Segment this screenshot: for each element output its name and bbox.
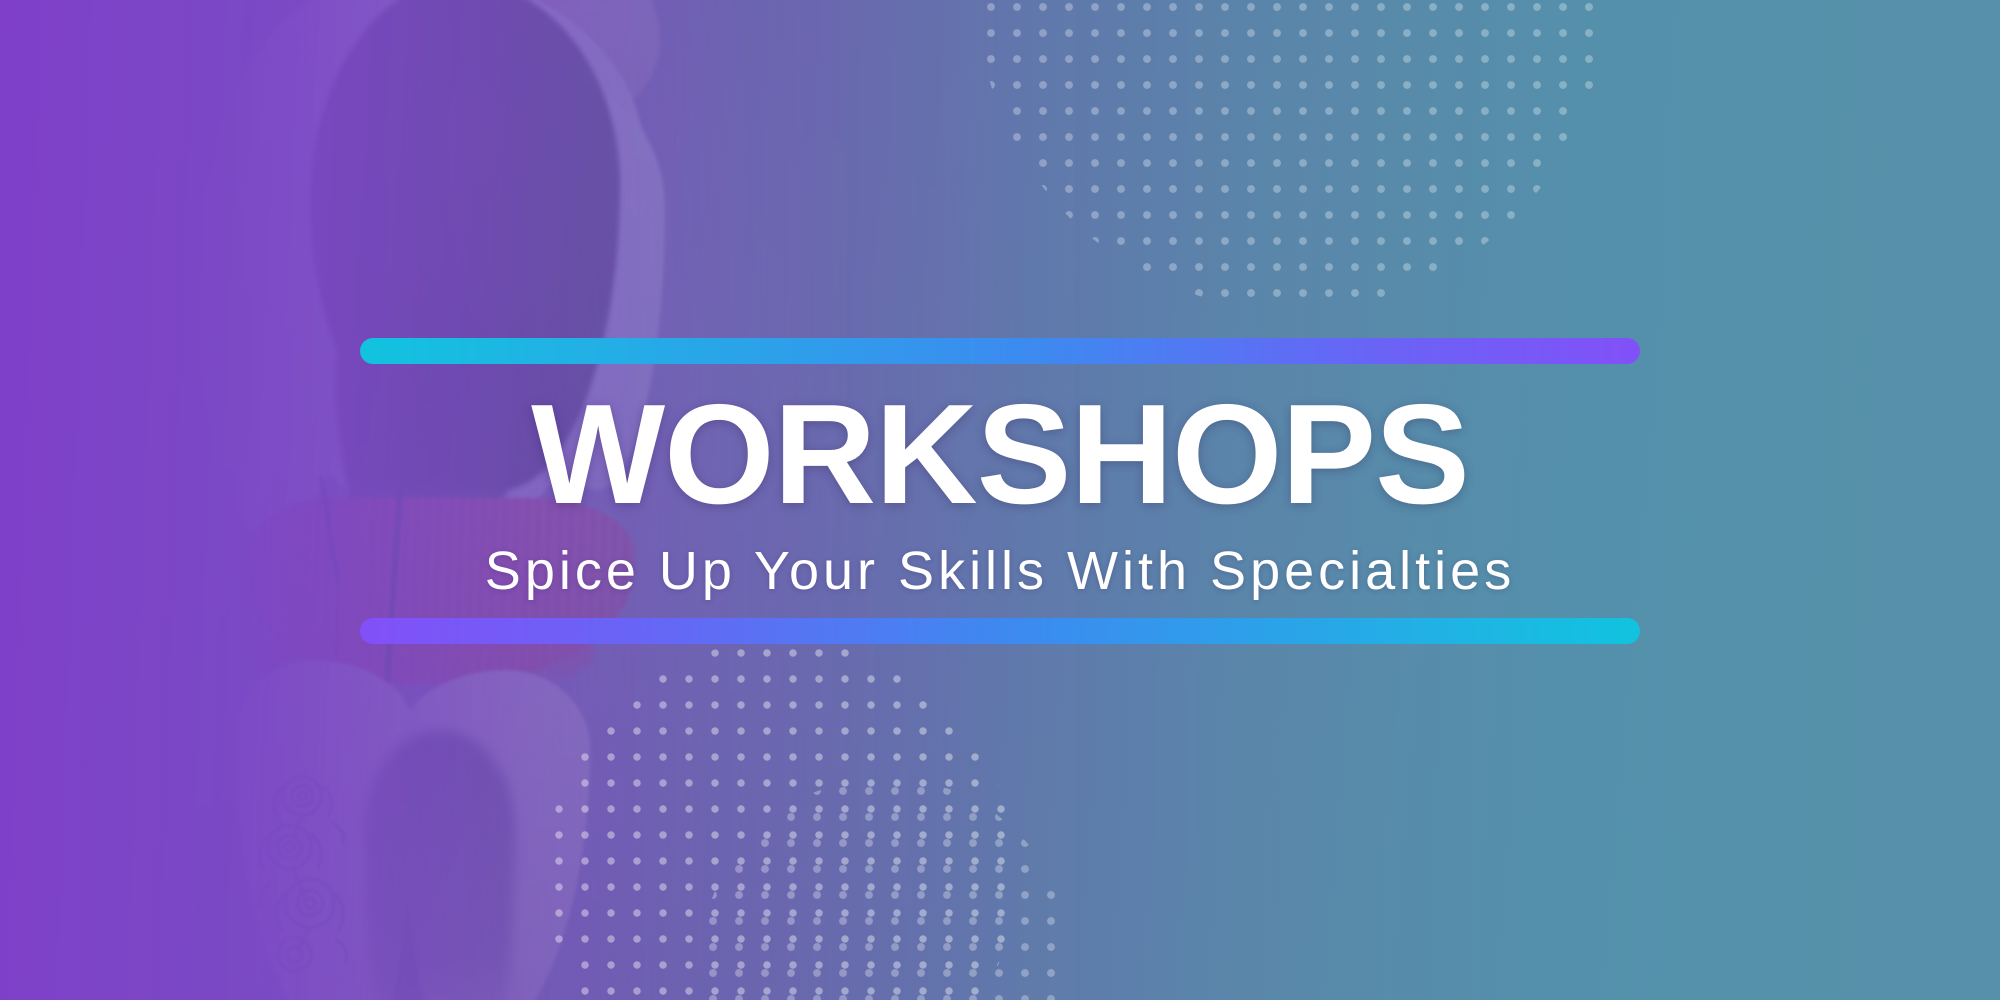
page-title: WORKSHOPS (531, 384, 1469, 526)
page-subtitle: Spice Up Your Skills With Specialties (485, 544, 1515, 598)
divider-rule-top (360, 338, 1640, 364)
divider-rule-bottom (360, 618, 1640, 644)
banner-content: WORKSHOPS Spice Up Your Skills With Spec… (360, 338, 1640, 644)
workshops-hero-banner: WORKSHOPS Spice Up Your Skills With Spec… (0, 0, 2000, 1000)
